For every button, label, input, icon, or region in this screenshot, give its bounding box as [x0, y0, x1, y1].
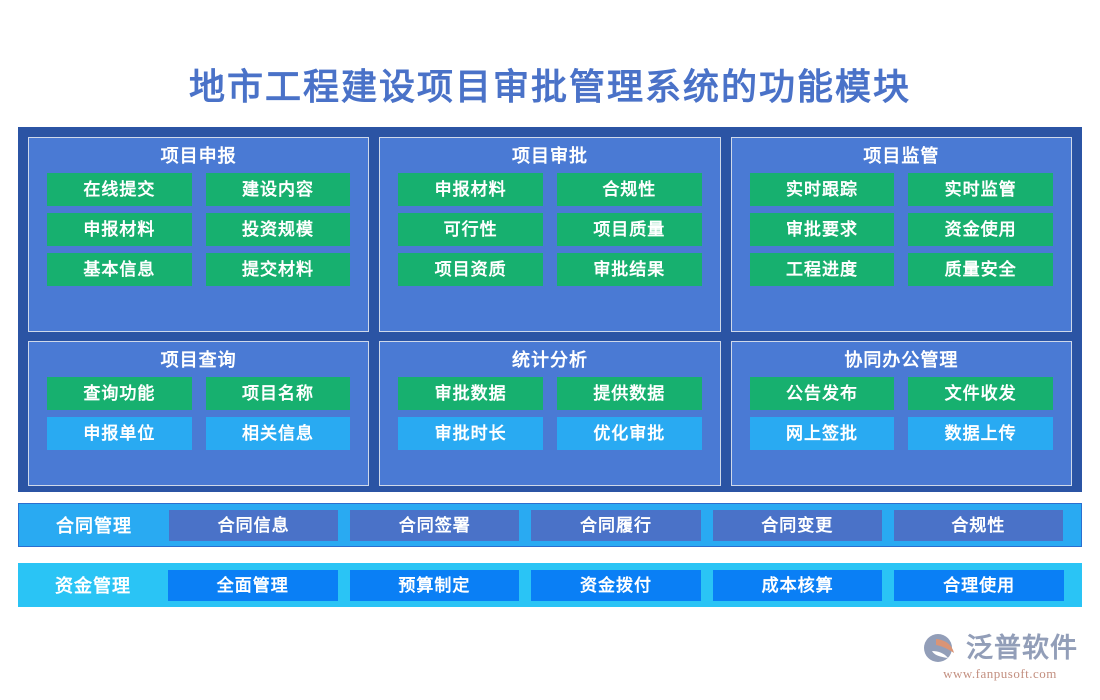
- brand-name: 泛普软件: [966, 635, 1078, 662]
- module-item-button[interactable]: 审批要求: [750, 213, 895, 246]
- module-item-button[interactable]: 公告发布: [750, 377, 895, 410]
- panel-grid: 项目申报在线提交建设内容申报材料投资规模基本信息提交材料项目审批申报材料合规性可…: [28, 137, 1072, 482]
- contract-management-label: 合同管理: [19, 512, 169, 538]
- module-item-button[interactable]: 在线提交: [47, 173, 192, 206]
- module-panel-title: 统计分析: [392, 348, 707, 377]
- brand-row: 泛普软件: [922, 633, 1078, 663]
- module-item-button[interactable]: 质量安全: [908, 253, 1053, 286]
- module-item-button[interactable]: 实时监管: [908, 173, 1053, 206]
- module-panel-items: 实时跟踪实时监管审批要求资金使用工程进度质量安全: [744, 173, 1059, 323]
- funding-management-label: 资金管理: [18, 572, 168, 598]
- module-item-button[interactable]: 申报材料: [47, 213, 192, 246]
- module-panel: 项目查询查询功能项目名称申报单位相关信息: [28, 341, 369, 486]
- module-item-button[interactable]: 审批结果: [557, 253, 702, 286]
- module-item-button[interactable]: 网上签批: [750, 417, 895, 450]
- module-item-button[interactable]: 项目名称: [206, 377, 351, 410]
- module-item-button[interactable]: 提供数据: [557, 377, 702, 410]
- bar-item-button[interactable]: 合同变更: [713, 510, 882, 541]
- module-item-button[interactable]: 可行性: [398, 213, 543, 246]
- module-panel-title: 项目查询: [41, 348, 356, 377]
- module-item-button[interactable]: 项目质量: [557, 213, 702, 246]
- module-panel-title: 项目监管: [744, 144, 1059, 173]
- brand-watermark: 泛普软件 www.fanpusoft.com: [922, 633, 1078, 682]
- module-panel-items: 查询功能项目名称申报单位相关信息: [41, 377, 356, 477]
- module-item-button[interactable]: 数据上传: [908, 417, 1053, 450]
- module-item-button[interactable]: 合规性: [557, 173, 702, 206]
- module-item-button[interactable]: 优化审批: [557, 417, 702, 450]
- contract-management-bar: 合同管理 合同信息合同签署合同履行合同变更合规性: [18, 503, 1082, 547]
- bar-item-button[interactable]: 资金拨付: [531, 570, 701, 601]
- module-panel-items: 申报材料合规性可行性项目质量项目资质审批结果: [392, 173, 707, 323]
- module-panel: 统计分析审批数据提供数据审批时长优化审批: [379, 341, 720, 486]
- module-item-button[interactable]: 文件收发: [908, 377, 1053, 410]
- module-item-button[interactable]: 投资规模: [206, 213, 351, 246]
- module-item-button[interactable]: 相关信息: [206, 417, 351, 450]
- module-panel-items: 公告发布文件收发网上签批数据上传: [744, 377, 1059, 477]
- bar-item-button[interactable]: 合规性: [894, 510, 1063, 541]
- contract-management-items: 合同信息合同签署合同履行合同变更合规性: [169, 510, 1081, 541]
- fanpu-logo-icon: [922, 633, 962, 663]
- funding-management-items: 全面管理预算制定资金拨付成本核算合理使用: [168, 570, 1082, 601]
- brand-url: www.fanpusoft.com: [943, 666, 1057, 682]
- bar-item-button[interactable]: 全面管理: [168, 570, 338, 601]
- funding-management-bar: 资金管理 全面管理预算制定资金拨付成本核算合理使用: [18, 563, 1082, 607]
- module-panel: 项目监管实时跟踪实时监管审批要求资金使用工程进度质量安全: [731, 137, 1072, 332]
- module-item-button[interactable]: 工程进度: [750, 253, 895, 286]
- module-item-button[interactable]: 建设内容: [206, 173, 351, 206]
- module-item-button[interactable]: 基本信息: [47, 253, 192, 286]
- bar-item-button[interactable]: 成本核算: [713, 570, 883, 601]
- bar-item-button[interactable]: 合同履行: [531, 510, 700, 541]
- module-item-button[interactable]: 审批时长: [398, 417, 543, 450]
- bar-item-button[interactable]: 合同签署: [350, 510, 519, 541]
- module-panel-items: 审批数据提供数据审批时长优化审批: [392, 377, 707, 477]
- bar-item-button[interactable]: 预算制定: [350, 570, 520, 601]
- module-item-button[interactable]: 审批数据: [398, 377, 543, 410]
- module-item-button[interactable]: 申报材料: [398, 173, 543, 206]
- bar-item-button[interactable]: 合同信息: [169, 510, 338, 541]
- module-item-button[interactable]: 资金使用: [908, 213, 1053, 246]
- module-item-button[interactable]: 实时跟踪: [750, 173, 895, 206]
- module-panel: 项目申报在线提交建设内容申报材料投资规模基本信息提交材料: [28, 137, 369, 332]
- module-panel-title: 协同办公管理: [744, 348, 1059, 377]
- modules-container: 项目申报在线提交建设内容申报材料投资规模基本信息提交材料项目审批申报材料合规性可…: [18, 127, 1082, 492]
- module-item-button[interactable]: 申报单位: [47, 417, 192, 450]
- bar-item-button[interactable]: 合理使用: [894, 570, 1064, 601]
- module-item-button[interactable]: 查询功能: [47, 377, 192, 410]
- page-title: 地市工程建设项目审批管理系统的功能模块: [0, 58, 1100, 110]
- module-panel-title: 项目申报: [41, 144, 356, 173]
- module-item-button[interactable]: 提交材料: [206, 253, 351, 286]
- module-panel: 项目审批申报材料合规性可行性项目质量项目资质审批结果: [379, 137, 720, 332]
- module-item-button[interactable]: 项目资质: [398, 253, 543, 286]
- module-panel-title: 项目审批: [392, 144, 707, 173]
- page-root: 地市工程建设项目审批管理系统的功能模块 项目申报在线提交建设内容申报材料投资规模…: [0, 0, 1100, 700]
- module-panel-items: 在线提交建设内容申报材料投资规模基本信息提交材料: [41, 173, 356, 323]
- module-panel: 协同办公管理公告发布文件收发网上签批数据上传: [731, 341, 1072, 486]
